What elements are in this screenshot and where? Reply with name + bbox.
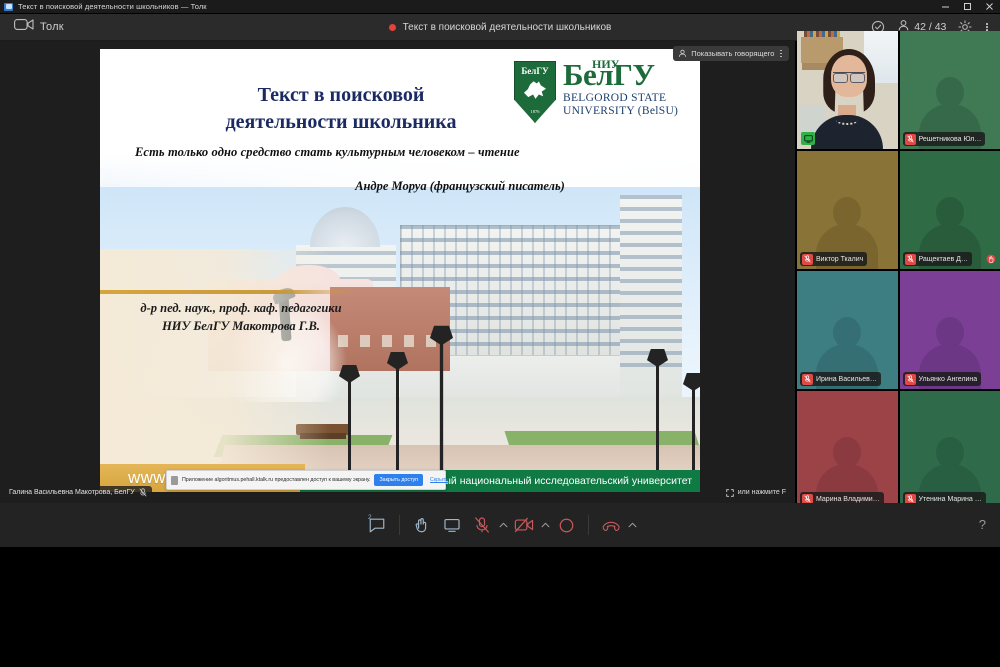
- slide-quote-author: Андре Моруа (французский писатель): [135, 179, 665, 194]
- photo-lamp: [656, 365, 659, 473]
- participant-tile[interactable]: Ращектаев Д…: [900, 151, 1000, 269]
- camera-menu-chevron-up-icon[interactable]: [539, 510, 551, 540]
- slide-title: Текст в поисковой деятельности школьника: [196, 82, 486, 136]
- slide-gold-rule: [100, 290, 362, 294]
- share-screen-button[interactable]: [437, 510, 467, 540]
- chat-button[interactable]: 2: [362, 510, 392, 540]
- fullscreen-icon: [726, 484, 734, 502]
- photo-lamp: [692, 389, 695, 473]
- window-controls: [934, 0, 1000, 14]
- meeting-title: Текст в поисковой деятельности школьнико…: [260, 22, 740, 33]
- raise-hand-icon: [986, 254, 996, 264]
- pegasus-icon: [523, 80, 547, 102]
- desktop-background: [0, 547, 1000, 667]
- video-person-necklace: [836, 115, 858, 125]
- stop-sharing-button[interactable]: Закрыть доступ: [374, 474, 423, 486]
- video-person-glasses: [833, 72, 865, 80]
- participant-name: Ращектаев Д…: [919, 256, 968, 263]
- participant-name-chip: Ульянко Ангелина: [903, 372, 982, 386]
- mic-menu-chevron-up-icon[interactable]: [497, 510, 509, 540]
- participant-tile[interactable]: Решетникова Юл…: [900, 31, 1000, 149]
- slide-title-line2: деятельности школьника: [196, 109, 486, 136]
- presenter-name-chip: Галина Васильевна Макотрова, БелГУ: [4, 486, 152, 499]
- screen-share-notice-text: Приложение algoritmus.pehall.ktalk.ru пр…: [182, 477, 370, 483]
- mic-off-icon: [802, 254, 813, 265]
- record-button[interactable]: [551, 510, 581, 540]
- photo-tower: [620, 195, 682, 410]
- mic-off-icon: [139, 484, 147, 502]
- shield-icon: БелГУ 1876: [514, 61, 556, 123]
- close-button[interactable]: [978, 0, 1000, 14]
- screen-share-badge: [801, 132, 815, 145]
- presentation-slide: Текст в поисковой деятельности школьника…: [100, 49, 700, 492]
- camera-button[interactable]: [509, 510, 539, 540]
- photo-lamp: [396, 368, 399, 473]
- logo-niu: НИУ: [592, 59, 619, 70]
- participant-name-chip: Решетникова Юл…: [903, 132, 986, 146]
- screen-share-notice: Приложение algoritmus.pehall.ktalk.ru пр…: [166, 470, 446, 490]
- toolbar-divider: [399, 515, 400, 535]
- fullscreen-hint[interactable]: или нажмите F: [721, 486, 791, 499]
- toolbar-divider: [588, 515, 589, 535]
- slide-beige-overlay: [100, 249, 330, 492]
- photo-lamp: [348, 381, 351, 473]
- recording-dot: [389, 24, 396, 31]
- maximize-button[interactable]: [956, 0, 978, 14]
- slide-author-line2: НИУ БелГУ Макотрова Г.В.: [116, 317, 366, 335]
- hide-notice-button[interactable]: Скрыть: [427, 477, 451, 483]
- kebab-menu-icon[interactable]: [984, 23, 990, 31]
- info-icon: [171, 476, 178, 485]
- participant-name: Ульянко Ангелина: [919, 376, 978, 383]
- participant-name: Решетникова Юл…: [919, 136, 982, 143]
- microphone-button[interactable]: [467, 510, 497, 540]
- shield-top-label: БелГУ: [514, 66, 556, 76]
- participants-grid: Решетникова Юл… Виктор Ткалич: [797, 31, 1000, 511]
- logo-sub-line1: BELGOROD STATE: [563, 92, 678, 105]
- participant-name-chip: Ирина Васильев…: [800, 372, 881, 386]
- window-title: Текст в поисковой деятельности школьнико…: [18, 2, 207, 11]
- raise-hand-button[interactable]: [407, 510, 437, 540]
- participant-tile[interactable]: Ульянко Ангелина: [900, 271, 1000, 389]
- speaker-person-icon: [678, 45, 687, 63]
- participant-tile[interactable]: Ирина Васильев…: [797, 271, 898, 389]
- slide-author-line1: д-р пед. наук., проф. каф. педагогики: [116, 299, 366, 317]
- meeting-title-text: Текст в поисковой деятельности школьнико…: [403, 22, 612, 33]
- fullscreen-hint-label: или нажмите F: [738, 489, 786, 496]
- shield-year-label: 1876: [514, 109, 556, 114]
- shared-screen-stage: Показывать говорящего: [0, 41, 795, 503]
- participant-tile[interactable]: Утенина Марина …: [900, 391, 1000, 509]
- logo-wordmark: НИУ БелГУ: [563, 61, 678, 90]
- university-logo: БелГУ 1876 НИУ БелГУ BELGOROD STATE UNIV…: [514, 61, 678, 123]
- brand: Толк: [14, 18, 64, 36]
- brand-label: Толк: [40, 21, 64, 33]
- presenter-name: Галина Васильевна Макотрова, БелГУ: [9, 489, 135, 496]
- help-button[interactable]: ?: [979, 517, 986, 532]
- slide-quote: Есть только одно средство стать культурн…: [135, 145, 665, 160]
- minimize-button[interactable]: [934, 0, 956, 14]
- participant-tile-self[interactable]: [797, 31, 898, 149]
- video-camera-icon: [14, 18, 34, 36]
- logo-subtitle: BELGOROD STATE UNIVERSITY (BelSU): [563, 92, 678, 119]
- slide-title-line1: Текст в поисковой: [196, 82, 486, 109]
- logo-sub-line2: UNIVERSITY (BelSU): [563, 105, 678, 118]
- participant-name: Виктор Ткалич: [816, 256, 863, 263]
- logo-text: НИУ БелГУ BELGOROD STATE UNIVERSITY (Bel…: [563, 61, 678, 118]
- mic-off-icon: [802, 374, 813, 385]
- participant-tile[interactable]: Марина Владими…: [797, 391, 898, 509]
- participant-tile[interactable]: Виктор Ткалич: [797, 151, 898, 269]
- window-titlebar: Текст в поисковой деятельности школьнико…: [0, 0, 1000, 14]
- meeting-toolbar: 2 ?: [0, 503, 1000, 547]
- participant-name: Марина Владими…: [816, 496, 880, 503]
- photo-lamp: [440, 343, 443, 473]
- mic-off-icon: [905, 254, 916, 265]
- chat-badge: 2: [368, 514, 372, 521]
- participant-name-chip: Виктор Ткалич: [800, 252, 867, 266]
- participant-name-chip: Ращектаев Д…: [903, 252, 972, 266]
- mic-off-icon: [905, 374, 916, 385]
- app-window-icon: [4, 3, 13, 11]
- show-speaker-label: Показывать говорящего: [691, 49, 774, 58]
- mic-off-icon: [905, 134, 916, 145]
- leave-call-button[interactable]: [596, 510, 626, 540]
- show-speaker-chip[interactable]: Показывать говорящего: [673, 46, 789, 61]
- participant-name: Утенина Марина …: [919, 496, 982, 503]
- leave-menu-chevron-up-icon[interactable]: [626, 510, 638, 540]
- kebab-menu-icon[interactable]: [778, 50, 784, 58]
- slide-author-block: д-р пед. наук., проф. каф. педагогики НИ…: [116, 299, 366, 335]
- participant-name: Ирина Васильев…: [816, 376, 877, 383]
- app-root: Текст в поисковой деятельности школьнико…: [0, 0, 1000, 667]
